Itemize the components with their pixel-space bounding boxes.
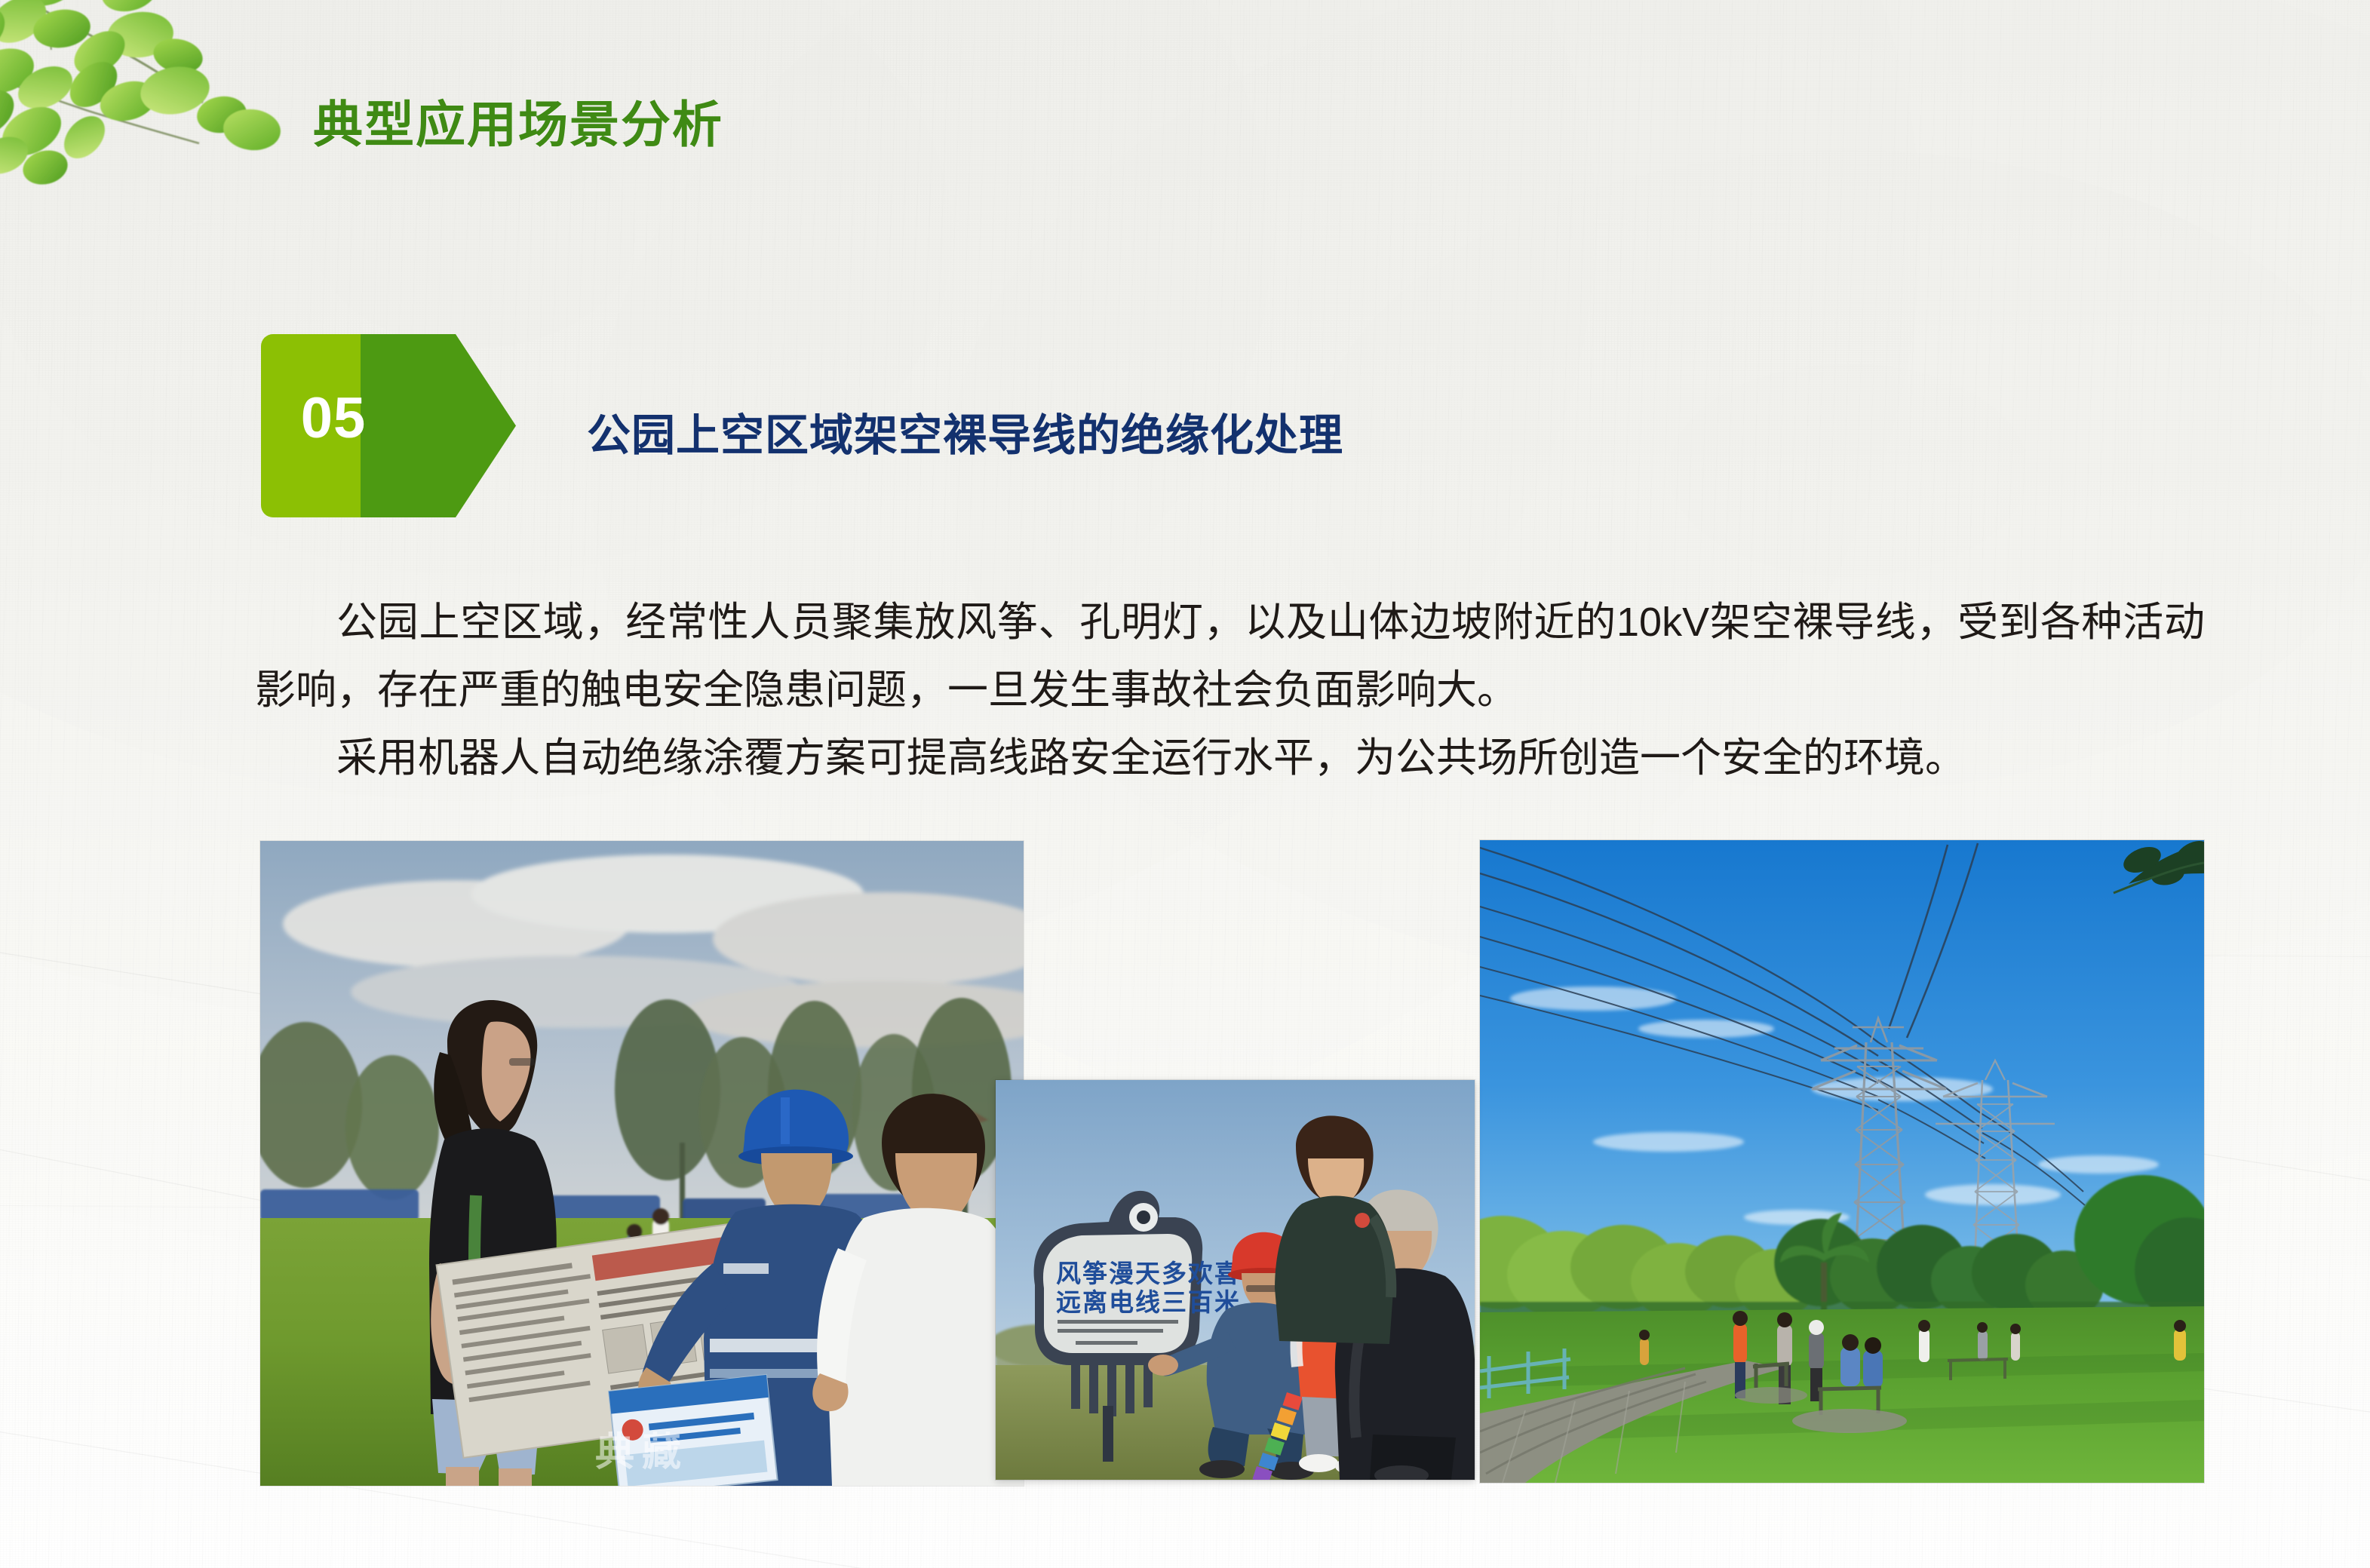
body-paragraph-1: 公园上空区域，经常性人员聚集放风筝、孔明灯，以及山体边坡附近的10kV架空裸导线… [255, 588, 2205, 724]
photo-transmission-towers[interactable] [1480, 840, 2204, 1483]
section-badge: 05 [261, 334, 516, 517]
leaf-branch-icon [0, 0, 305, 192]
photo-kite-sign[interactable]: 风筝漫天多欢喜 远离电线三百米 [996, 1080, 1475, 1480]
slide-canvas: 典型应用场景分析 05 公园上空区域架空裸导线的绝缘化处理 公园上空区域，经常性… [0, 0, 2370, 1568]
photo-park-education[interactable]: 典藏 [260, 841, 1024, 1486]
section-subtitle: 公园上空区域架空裸导线的绝缘化处理 [587, 400, 1343, 463]
svg-text:风筝漫天多欢喜: 风筝漫天多欢喜 [1056, 1260, 1241, 1287]
body-copy: 公园上空区域，经常性人员聚集放风筝、孔明灯，以及山体边坡附近的10kV架空裸导线… [255, 588, 2205, 792]
page-title: 典型应用场景分析 [313, 84, 723, 157]
svg-text:远离电线三百米: 远离电线三百米 [1056, 1288, 1241, 1316]
body-paragraph-2: 采用机器人自动绝缘涂覆方案可提高线路安全运行水平，为公共场所创造一个安全的环境。 [255, 724, 2205, 792]
section-number: 05 [288, 390, 379, 447]
